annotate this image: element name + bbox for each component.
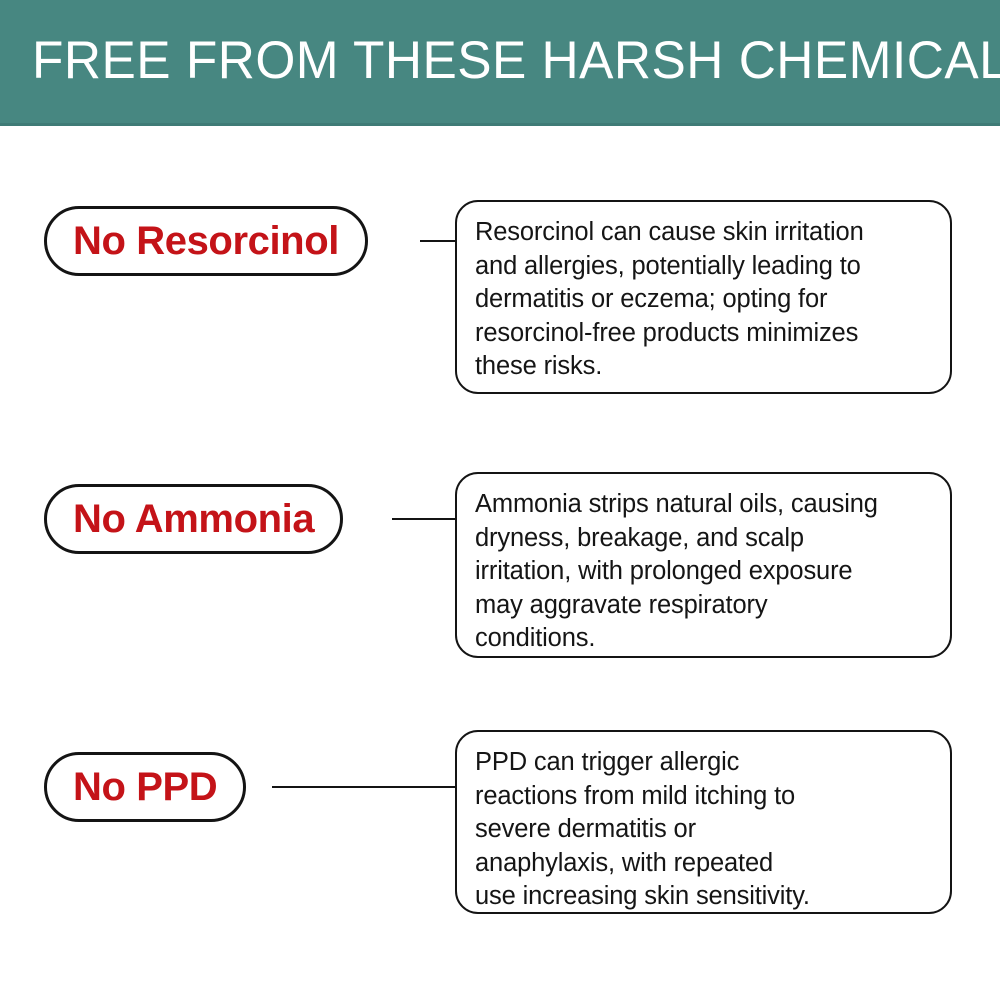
chemical-description-box-resorcinol: Resorcinol can cause skin irritation and… [455, 200, 952, 394]
chemical-row-ppd: No PPD PPD can trigger allergic reaction… [0, 726, 1000, 920]
chemical-description-text: Ammonia strips natural oils, causing dry… [475, 488, 928, 656]
chemical-pill-ppd[interactable]: No PPD [44, 752, 246, 822]
page-title: FREE FROM THESE HARSH CHEMICALS [32, 30, 1000, 92]
chemical-description-text: Resorcinol can cause skin irritation and… [475, 216, 928, 384]
chemical-row-resorcinol: No Resorcinol Resorcinol can cause skin … [0, 196, 1000, 398]
chemical-description-box-ppd: PPD can trigger allergic reactions from … [455, 730, 952, 914]
chemical-pill-resorcinol[interactable]: No Resorcinol [44, 206, 368, 276]
chemical-pill-label: No Ammonia [73, 497, 314, 541]
connector-line [392, 518, 460, 520]
header-banner: FREE FROM THESE HARSH CHEMICALS [0, 0, 1000, 126]
connector-line [420, 240, 460, 242]
chemical-pill-label: No PPD [73, 765, 217, 809]
chemical-pill-label: No Resorcinol [73, 219, 339, 263]
chemical-description-text: PPD can trigger allergic reactions from … [475, 746, 928, 914]
connector-line [272, 786, 460, 788]
chemical-row-ammonia: No Ammonia Ammonia strips natural oils, … [0, 468, 1000, 664]
chemical-description-box-ammonia: Ammonia strips natural oils, causing dry… [455, 472, 952, 658]
chemical-pill-ammonia[interactable]: No Ammonia [44, 484, 343, 554]
